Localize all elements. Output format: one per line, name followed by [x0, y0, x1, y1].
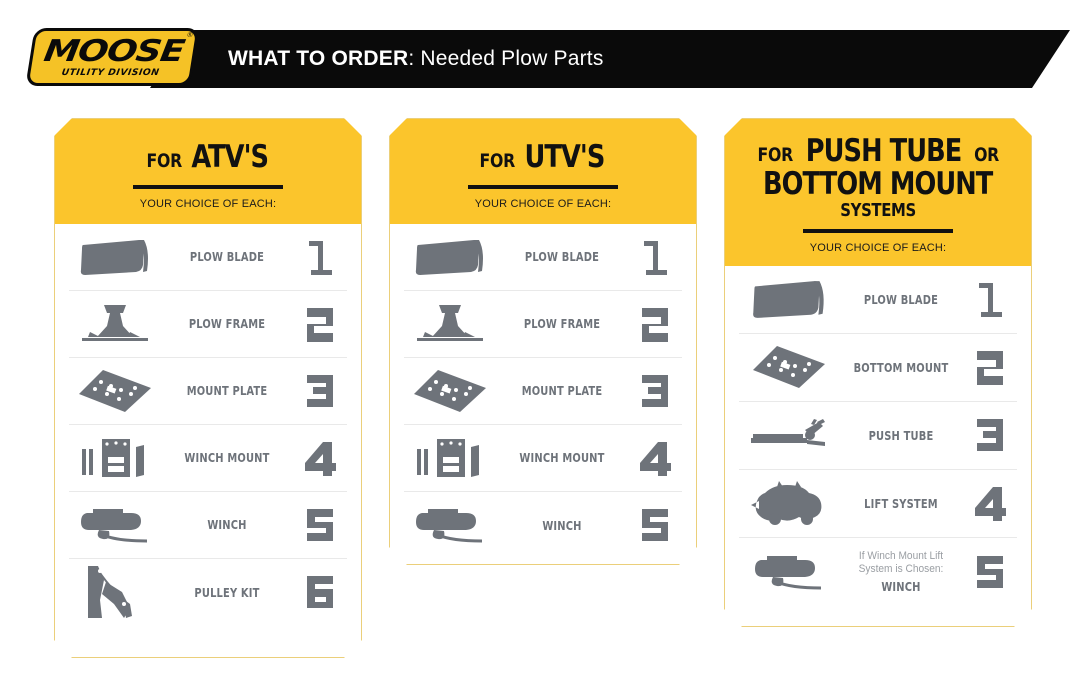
mount-plate-icon: [404, 368, 496, 414]
plow-frame-icon: [404, 302, 496, 346]
list-item-label: PLOW BLADE: [169, 249, 285, 264]
moose-utility-division-logo: MOOSE UTILITY DIVISION ®: [30, 28, 195, 86]
card-atv-subtitle: YOUR CHOICE OF EACH:: [69, 198, 347, 210]
card-push-tube-body: PLOW BLADE BOTTOM MOUNT: [725, 266, 1031, 606]
logo-wordmark: MOOSE: [41, 37, 185, 67]
card-push-tube-title-line1: FOR PUSH TUBE OR: [739, 135, 1017, 168]
card-atv-title: FOR ATV'S: [69, 141, 347, 174]
list-item: WINCH: [69, 492, 347, 559]
list-item-number: [293, 371, 347, 411]
list-item-number: [628, 505, 682, 545]
list-item: MOUNT PLATE: [69, 358, 347, 425]
list-item-number: [628, 304, 682, 344]
list-item-number: [963, 279, 1017, 319]
list-item-number: [963, 552, 1017, 592]
page-title-light: : Needed Plow Parts: [408, 47, 603, 71]
list-item: PULLEY KIT: [69, 559, 347, 626]
winch-icon: [69, 505, 161, 545]
list-item-number: [963, 415, 1017, 455]
list-item: WINCH MOUNT: [404, 425, 682, 492]
plow-blade-icon: [404, 237, 496, 277]
card-utv: FOR UTV'S YOUR CHOICE OF EACH: PLOW BLAD…: [389, 118, 697, 565]
card-utv-body: PLOW BLADE PLOW FRAME: [390, 224, 696, 559]
list-item: If Winch Mount Lift System is Chosen: WI…: [739, 538, 1017, 606]
list-item-number: [963, 483, 1017, 523]
list-item-number: [293, 505, 347, 545]
winch-mount-icon: [69, 435, 161, 481]
card-atv-header: FOR ATV'S YOUR CHOICE OF EACH:: [55, 119, 361, 224]
card-push-tube-title-line2: BOTTOM MOUNT: [739, 168, 1017, 201]
card-push-tube-title-post: OR: [974, 145, 999, 165]
list-item: PLOW FRAME: [69, 291, 347, 358]
card-utv-title-pre: FOR: [480, 151, 515, 171]
card-push-tube-header: FOR PUSH TUBE OR BOTTOM MOUNT SYSTEMS YO…: [725, 119, 1031, 266]
list-item: PLOW FRAME: [404, 291, 682, 358]
list-item: PLOW BLADE: [739, 266, 1017, 334]
page-header: MOOSE UTILITY DIVISION ® WHAT TO ORDER :…: [0, 0, 1080, 108]
pulley-kit-icon: [69, 564, 161, 620]
list-item: PLOW BLADE: [69, 224, 347, 291]
card-utv-header: FOR UTV'S YOUR CHOICE OF EACH:: [390, 119, 696, 224]
list-item: WINCH: [404, 492, 682, 559]
plow-frame-icon: [69, 302, 161, 346]
page-title: WHAT TO ORDER : Needed Plow Parts: [228, 30, 604, 88]
plow-blade-icon: [69, 237, 161, 277]
list-item-label: PLOW BLADE: [504, 249, 620, 264]
list-item: BOTTOM MOUNT: [739, 334, 1017, 402]
list-item-label: MOUNT PLATE: [504, 383, 620, 398]
card-push-tube-bottom-mount: FOR PUSH TUBE OR BOTTOM MOUNT SYSTEMS YO…: [724, 118, 1032, 627]
card-utv-subtitle: YOUR CHOICE OF EACH:: [404, 198, 682, 210]
list-item-label-text: WINCH: [881, 579, 920, 594]
list-item-label: MOUNT PLATE: [169, 383, 285, 398]
winch-icon: [404, 505, 496, 545]
list-item-label: BOTTOM MOUNT: [846, 360, 955, 375]
card-push-tube-title: FOR PUSH TUBE OR BOTTOM MOUNT SYSTEMS: [739, 135, 1017, 220]
card-atv-title-main: ATV'S: [191, 141, 268, 174]
list-item-label: PUSH TUBE: [846, 428, 955, 443]
list-item-label: If Winch Mount Lift System is Chosen: WI…: [846, 550, 955, 594]
card-push-tube-rule: [803, 229, 953, 233]
list-item-note: If Winch Mount Lift System is Chosen:: [844, 550, 959, 576]
card-atv-rule: [133, 185, 283, 189]
list-item-label: PLOW BLADE: [846, 292, 955, 307]
push-tube-icon: [739, 418, 839, 452]
list-item-label: PLOW FRAME: [169, 316, 285, 331]
card-atv-body: PLOW BLADE PLOW FRAME: [55, 224, 361, 626]
card-push-tube-title-main: PUSH TUBE: [806, 135, 962, 168]
logo-text-group: MOOSE UTILITY DIVISION ®: [25, 28, 199, 86]
list-item-number: [293, 237, 347, 277]
list-item: MOUNT PLATE: [404, 358, 682, 425]
infographic-page: MOOSE UTILITY DIVISION ® WHAT TO ORDER :…: [0, 0, 1080, 691]
logo-subtitle: UTILITY DIVISION: [60, 69, 159, 78]
list-item-number: [628, 438, 682, 478]
list-item: PLOW BLADE: [404, 224, 682, 291]
list-item: LIFT SYSTEM: [739, 470, 1017, 538]
card-utv-title: FOR UTV'S: [404, 141, 682, 174]
winch-icon: [739, 552, 839, 592]
list-item-number: [628, 237, 682, 277]
list-item-label: WINCH MOUNT: [504, 450, 620, 465]
registered-trademark-icon: ®: [187, 32, 193, 39]
lift-system-icon: [739, 479, 839, 527]
card-atv-title-pre: FOR: [146, 151, 181, 171]
mount-plate-icon: [69, 368, 161, 414]
bottom-mount-icon: [739, 344, 839, 390]
card-push-tube-title-line3: SYSTEMS: [739, 201, 1017, 220]
winch-mount-icon: [404, 435, 496, 481]
list-item-number: [963, 347, 1017, 387]
card-push-tube-subtitle: YOUR CHOICE OF EACH:: [739, 242, 1017, 254]
list-item-number: [628, 371, 682, 411]
card-utv-rule: [468, 185, 618, 189]
list-item-number: [293, 304, 347, 344]
list-item: WINCH MOUNT: [69, 425, 347, 492]
list-item-label: LIFT SYSTEM: [846, 496, 955, 511]
card-utv-title-main: UTV'S: [525, 141, 605, 174]
card-atv: FOR ATV'S YOUR CHOICE OF EACH: PLOW BLAD…: [54, 118, 362, 658]
list-item-label: PULLEY KIT: [169, 585, 285, 600]
plow-blade-icon: [739, 278, 839, 320]
list-item-label: WINCH MOUNT: [169, 450, 285, 465]
list-item-number: [293, 438, 347, 478]
list-item-label: PLOW FRAME: [504, 316, 620, 331]
card-push-tube-title-pre: FOR: [758, 145, 793, 165]
list-item-label: WINCH: [169, 517, 285, 532]
page-title-strong: WHAT TO ORDER: [228, 47, 408, 71]
list-item-label: WINCH: [504, 518, 620, 533]
list-item: PUSH TUBE: [739, 402, 1017, 470]
list-item-number: [293, 572, 347, 612]
